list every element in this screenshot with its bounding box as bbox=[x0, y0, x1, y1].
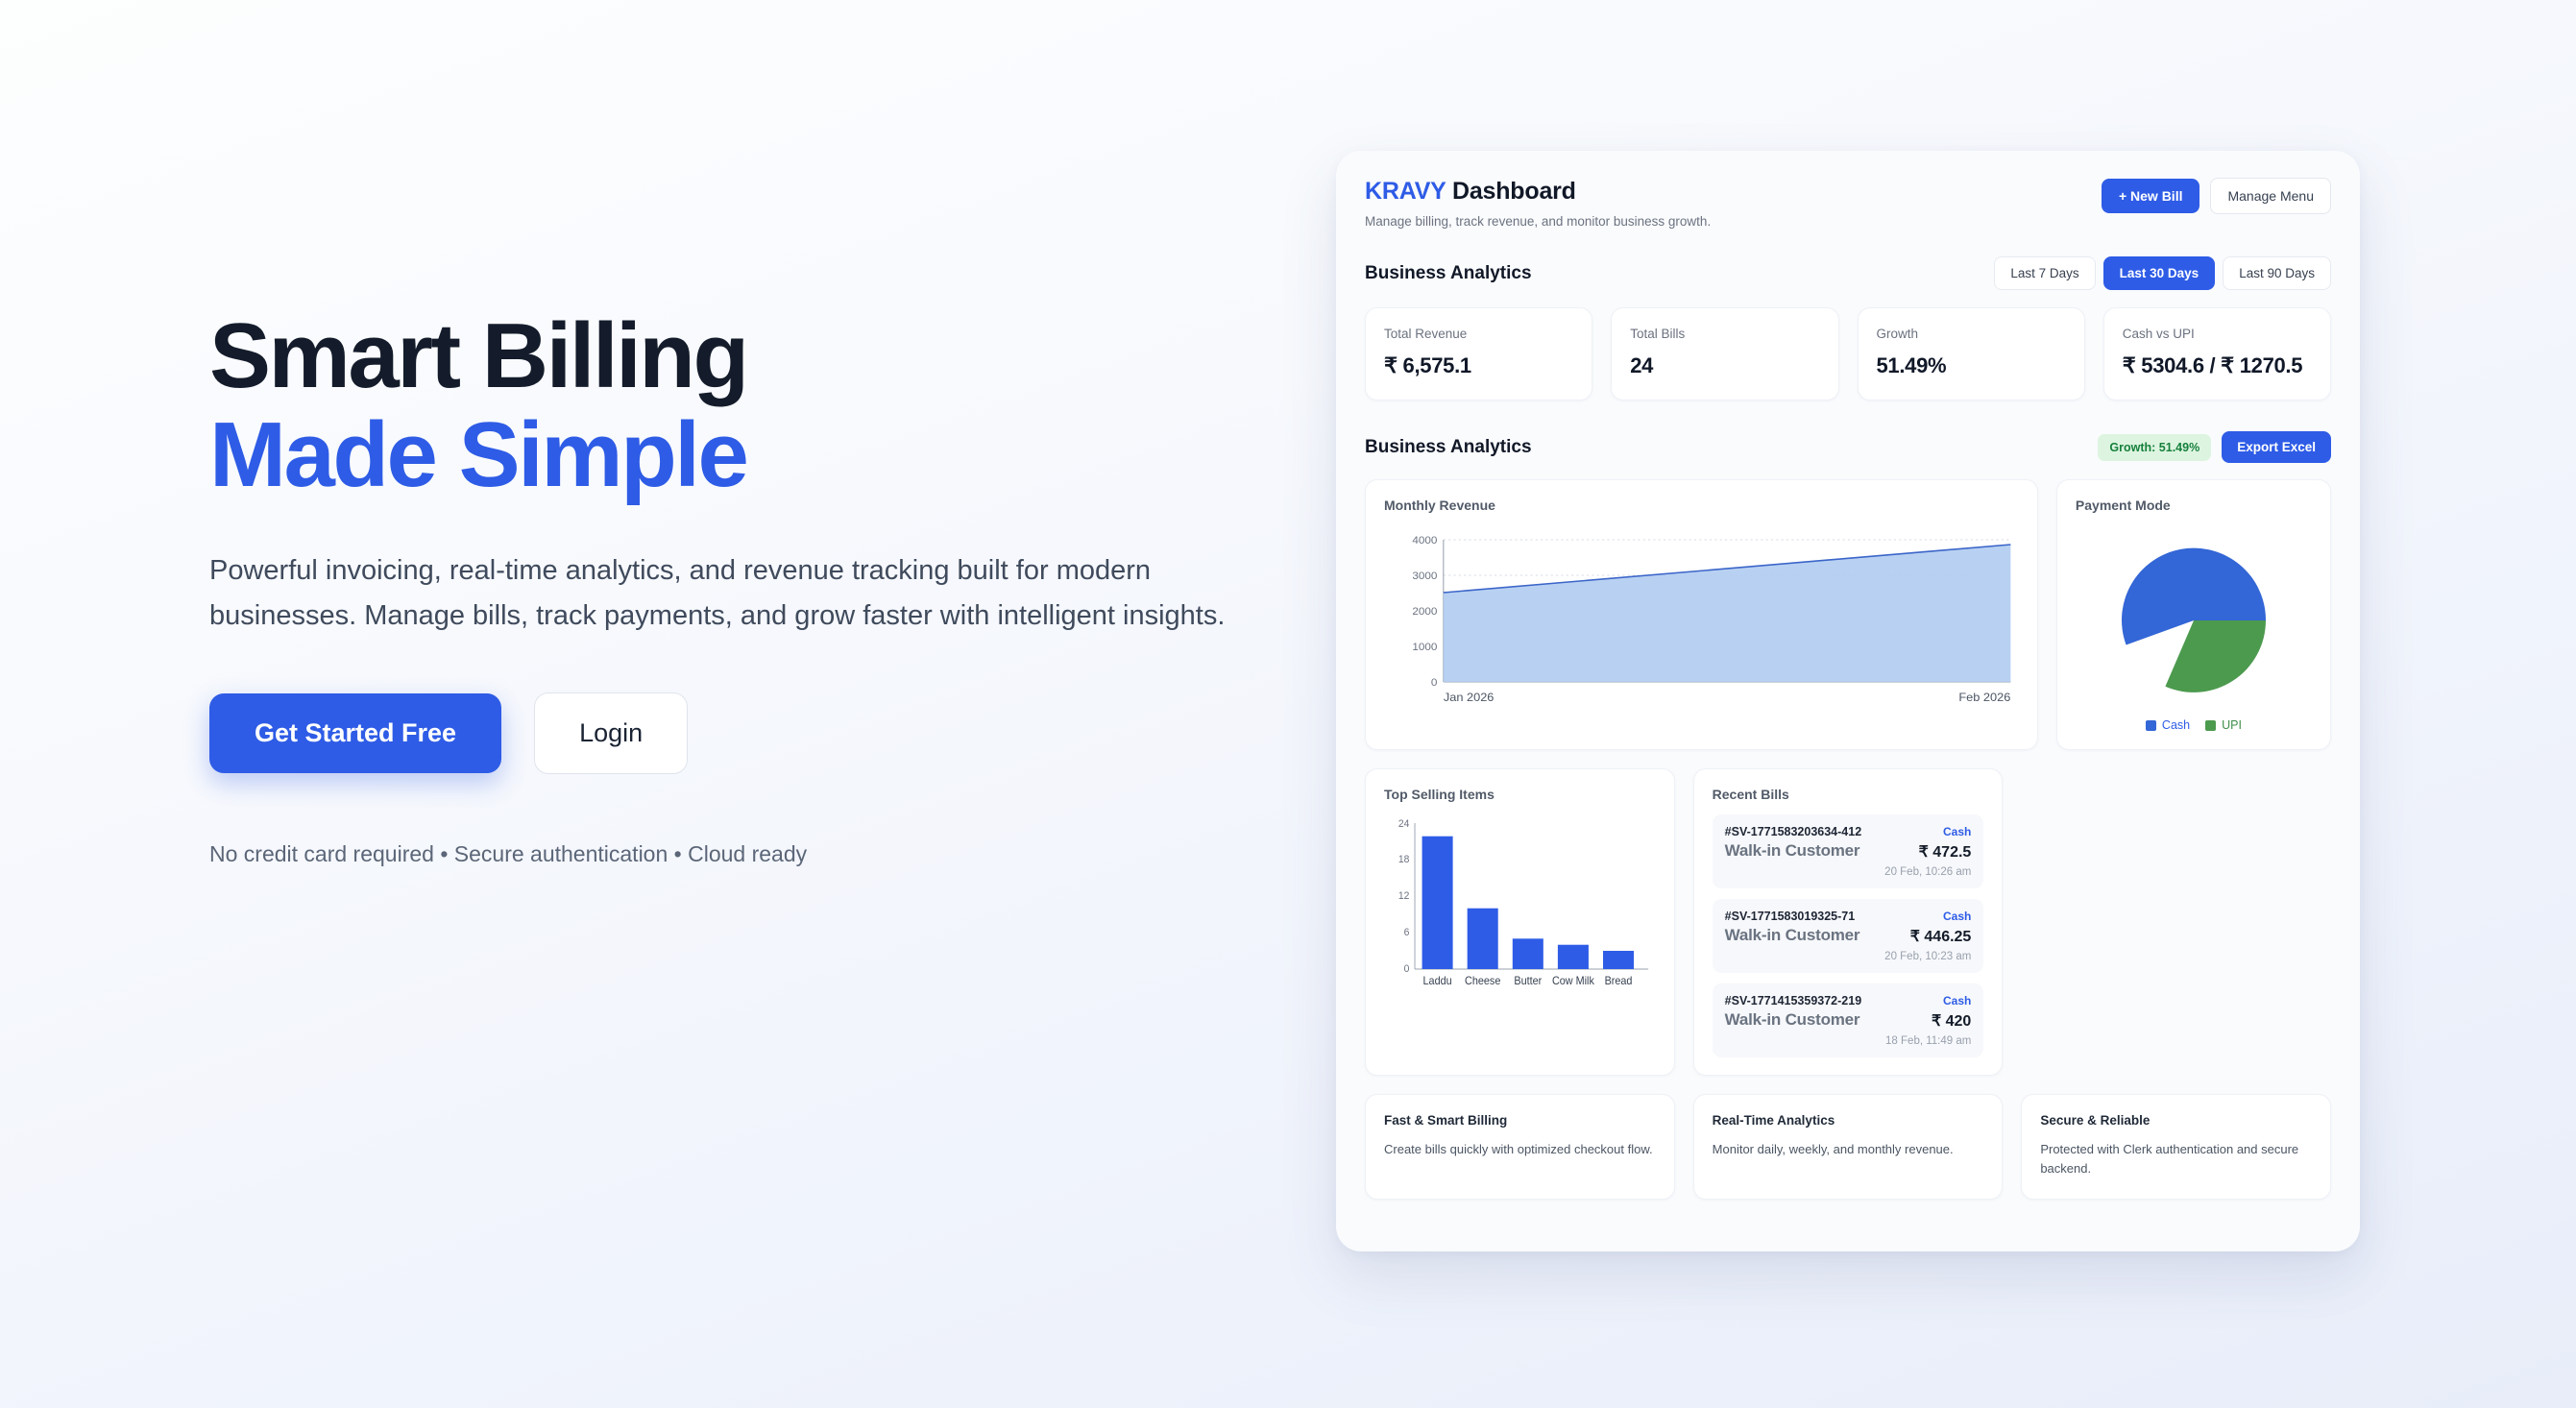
feature-card-row: Fast & Smart Billing Create bills quickl… bbox=[1365, 1094, 2331, 1200]
kpi-value: ₹ 6,575.1 bbox=[1384, 353, 1573, 378]
feature-card-fast-smart-billing: Fast & Smart Billing Create bills quickl… bbox=[1365, 1094, 1675, 1200]
legend-item-upi: UPI bbox=[2205, 718, 2242, 732]
hero-title-line1: Smart Billing bbox=[209, 304, 747, 407]
feature-card-real-time-analytics: Real-Time Analytics Monitor daily, weekl… bbox=[1693, 1094, 2004, 1200]
payment-mode-legend: Cash UPI bbox=[2076, 718, 2312, 732]
kpi-value: 24 bbox=[1630, 353, 1819, 378]
kpi-label: Cash vs UPI bbox=[2123, 327, 2312, 341]
bill-amount: ₹ 446.25 bbox=[1884, 927, 1971, 946]
login-button[interactable]: Login bbox=[534, 692, 688, 774]
list-item[interactable]: #SV-1771415359372-219 Walk-in Customer C… bbox=[1713, 983, 1984, 1057]
dashboard-header-actions: + New Bill Manage Menu bbox=[2102, 178, 2331, 214]
export-excel-button[interactable]: Export Excel bbox=[2222, 431, 2331, 463]
kpi-card-growth: Growth 51.49% bbox=[1858, 307, 2085, 401]
svg-text:4000: 4000 bbox=[1412, 535, 1437, 546]
range-last-90-days[interactable]: Last 90 Days bbox=[2223, 256, 2331, 290]
analytics-heading: Business Analytics bbox=[1365, 263, 1532, 284]
bar-cheese bbox=[1468, 909, 1498, 969]
payment-mode-title: Payment Mode bbox=[2076, 498, 2312, 513]
hero-section: Smart Billing Made Simple Powerful invoi… bbox=[209, 307, 1247, 867]
bill-customer: Walk-in Customer bbox=[1725, 926, 1860, 945]
svg-text:Butter: Butter bbox=[1514, 976, 1542, 987]
svg-text:24: 24 bbox=[1398, 818, 1410, 830]
dashboard-title-rest: Dashboard bbox=[1452, 178, 1576, 205]
bill-left: #SV-1771583203634-412 Walk-in Customer bbox=[1725, 825, 1862, 861]
svg-text:Bread: Bread bbox=[1605, 976, 1633, 987]
feature-title: Secure & Reliable bbox=[2040, 1113, 2312, 1128]
svg-text:Cow Milk: Cow Milk bbox=[1552, 976, 1594, 987]
recent-bills-title: Recent Bills bbox=[1713, 787, 1984, 802]
feature-description: Protected with Clerk authentication and … bbox=[2040, 1140, 2312, 1177]
range-last-7-days[interactable]: Last 7 Days bbox=[1994, 256, 2095, 290]
bar-bread bbox=[1603, 951, 1634, 969]
svg-text:Jan 2026: Jan 2026 bbox=[1444, 691, 1495, 704]
page-title: Smart Billing Made Simple bbox=[209, 307, 1247, 504]
lower-charts-row: Top Selling Items 24 18 12 6 0 Laddu bbox=[1365, 768, 2331, 1076]
hero-actions: Get Started Free Login bbox=[209, 692, 1247, 774]
legend-swatch-cash-icon bbox=[2146, 720, 2156, 731]
svg-text:Cheese: Cheese bbox=[1465, 976, 1500, 987]
dashboard-title: KRAVY Dashboard bbox=[1365, 178, 1711, 206]
list-item[interactable]: #SV-1771583019325-71 Walk-in Customer Ca… bbox=[1713, 899, 1984, 973]
kpi-card-cash-vs-upi: Cash vs UPI ₹ 5304.6 / ₹ 1270.5 bbox=[2103, 307, 2331, 401]
charts-row: Monthly Revenue 4000 3000 2000 1000 bbox=[1365, 479, 2331, 750]
legend-item-cash: Cash bbox=[2146, 718, 2190, 732]
svg-text:6: 6 bbox=[1404, 927, 1410, 938]
legend-swatch-upi-icon bbox=[2205, 720, 2216, 731]
hero-title-line2: Made Simple bbox=[209, 406, 1247, 505]
feature-card-secure-reliable: Secure & Reliable Protected with Clerk a… bbox=[2021, 1094, 2331, 1200]
bill-customer: Walk-in Customer bbox=[1725, 1010, 1862, 1030]
empty-grid-cell bbox=[2021, 768, 2331, 1076]
feature-title: Real-Time Analytics bbox=[1713, 1113, 1984, 1128]
list-item[interactable]: #SV-1771583203634-412 Walk-in Customer C… bbox=[1713, 814, 1984, 888]
kpi-value: 51.49% bbox=[1877, 353, 2066, 378]
dashboard-header-left: KRAVY Dashboard Manage billing, track re… bbox=[1365, 178, 1711, 229]
top-selling-items-card: Top Selling Items 24 18 12 6 0 Laddu bbox=[1365, 768, 1675, 1076]
kpi-label: Total Revenue bbox=[1384, 327, 1573, 341]
dashboard-header: KRAVY Dashboard Manage billing, track re… bbox=[1365, 178, 2331, 229]
status-badge-growth: Growth: 51.49% bbox=[2098, 434, 2211, 461]
bill-timestamp: 18 Feb, 11:49 am bbox=[1885, 1035, 1971, 1047]
top-selling-items-title: Top Selling Items bbox=[1384, 787, 1656, 802]
svg-text:2000: 2000 bbox=[1412, 606, 1437, 618]
svg-text:18: 18 bbox=[1398, 854, 1410, 865]
bill-id: #SV-1771583203634-412 bbox=[1725, 825, 1862, 838]
kpi-label: Growth bbox=[1877, 327, 2066, 341]
bill-amount: ₹ 420 bbox=[1885, 1011, 1971, 1031]
monthly-revenue-card: Monthly Revenue 4000 3000 2000 1000 bbox=[1365, 479, 2038, 750]
bar-butter bbox=[1513, 938, 1543, 969]
svg-text:12: 12 bbox=[1398, 890, 1410, 902]
feature-description: Monitor daily, weekly, and monthly reven… bbox=[1713, 1140, 1984, 1159]
svg-text:0: 0 bbox=[1431, 677, 1438, 689]
kpi-value: ₹ 5304.6 / ₹ 1270.5 bbox=[2123, 353, 2312, 378]
svg-text:3000: 3000 bbox=[1412, 570, 1437, 582]
bill-timestamp: 20 Feb, 10:26 am bbox=[1884, 866, 1971, 878]
range-last-30-days[interactable]: Last 30 Days bbox=[2103, 256, 2216, 290]
hero-note: No credit card required • Secure authent… bbox=[209, 841, 1247, 867]
bill-id: #SV-1771583019325-71 bbox=[1725, 910, 1860, 923]
hero-paragraph: Powerful invoicing, real-time analytics,… bbox=[209, 548, 1227, 639]
kpi-label: Total Bills bbox=[1630, 327, 1819, 341]
bill-amount: ₹ 472.5 bbox=[1884, 842, 1971, 862]
svg-text:1000: 1000 bbox=[1412, 642, 1437, 653]
svg-text:Feb 2026: Feb 2026 bbox=[1958, 691, 2010, 704]
bar-cow-milk bbox=[1558, 945, 1589, 969]
new-bill-button[interactable]: + New Bill bbox=[2102, 179, 2200, 213]
top-selling-items-chart: 24 18 12 6 0 Laddu Cheese Butter Cow Mil… bbox=[1384, 815, 1656, 998]
bill-right: Cash ₹ 420 18 Feb, 11:49 am bbox=[1885, 994, 1971, 1047]
analytics-section-header-2: Business Analytics Growth: 51.49% Export… bbox=[1365, 431, 2331, 463]
bill-payment-mode: Cash bbox=[1884, 825, 1971, 838]
feature-title: Fast & Smart Billing bbox=[1384, 1113, 1656, 1128]
brand-name: KRAVY bbox=[1365, 178, 1446, 205]
bill-left: #SV-1771415359372-219 Walk-in Customer bbox=[1725, 994, 1862, 1030]
dashboard-subtitle: Manage billing, track revenue, and monit… bbox=[1365, 214, 1711, 229]
bill-id: #SV-1771415359372-219 bbox=[1725, 994, 1862, 1007]
get-started-free-button[interactable]: Get Started Free bbox=[209, 693, 501, 773]
bill-timestamp: 20 Feb, 10:23 am bbox=[1884, 951, 1971, 962]
bill-payment-mode: Cash bbox=[1884, 910, 1971, 923]
recent-bills-list: #SV-1771583203634-412 Walk-in Customer C… bbox=[1713, 814, 1984, 1057]
area-chart-svg: 4000 3000 2000 1000 0 Jan 2026 Feb 2026 bbox=[1384, 528, 2019, 716]
bill-payment-mode: Cash bbox=[1885, 994, 1971, 1007]
date-range-filter-group: Last 7 Days Last 30 Days Last 90 Days bbox=[1994, 256, 2331, 290]
bill-left: #SV-1771583019325-71 Walk-in Customer bbox=[1725, 910, 1860, 945]
analytics-actions: Growth: 51.49% Export Excel bbox=[2098, 431, 2331, 463]
svg-text:0: 0 bbox=[1404, 963, 1410, 975]
bill-customer: Walk-in Customer bbox=[1725, 841, 1862, 861]
kpi-card-total-bills: Total Bills 24 bbox=[1611, 307, 1838, 401]
bar-laddu bbox=[1422, 837, 1453, 969]
dashboard-preview-panel: KRAVY Dashboard Manage billing, track re… bbox=[1336, 151, 2360, 1251]
bill-right: Cash ₹ 446.25 20 Feb, 10:23 am bbox=[1884, 910, 1971, 962]
manage-menu-button[interactable]: Manage Menu bbox=[2210, 178, 2331, 214]
feature-description: Create bills quickly with optimized chec… bbox=[1384, 1140, 1656, 1159]
bar-chart-svg: 24 18 12 6 0 Laddu Cheese Butter Cow Mil… bbox=[1384, 815, 1656, 998]
payment-mode-chart bbox=[2076, 524, 2312, 716]
monthly-revenue-title: Monthly Revenue bbox=[1384, 498, 2019, 513]
kpi-card-total-revenue: Total Revenue ₹ 6,575.1 bbox=[1365, 307, 1592, 401]
pie-chart-svg bbox=[2117, 544, 2271, 697]
monthly-revenue-chart: 4000 3000 2000 1000 0 Jan 2026 Feb 2026 bbox=[1384, 528, 2019, 716]
kpi-card-row: Total Revenue ₹ 6,575.1 Total Bills 24 G… bbox=[1365, 307, 2331, 401]
analytics-heading-2: Business Analytics bbox=[1365, 437, 1532, 458]
analytics-section-header: Business Analytics Last 7 Days Last 30 D… bbox=[1365, 256, 2331, 290]
legend-label-upi: UPI bbox=[2222, 718, 2242, 732]
bill-right: Cash ₹ 472.5 20 Feb, 10:26 am bbox=[1884, 825, 1971, 878]
svg-text:Laddu: Laddu bbox=[1423, 976, 1452, 987]
legend-label-cash: Cash bbox=[2162, 718, 2190, 732]
recent-bills-card: Recent Bills #SV-1771583203634-412 Walk-… bbox=[1693, 768, 2004, 1076]
payment-mode-card: Payment Mode Cash UPI bbox=[2056, 479, 2331, 750]
